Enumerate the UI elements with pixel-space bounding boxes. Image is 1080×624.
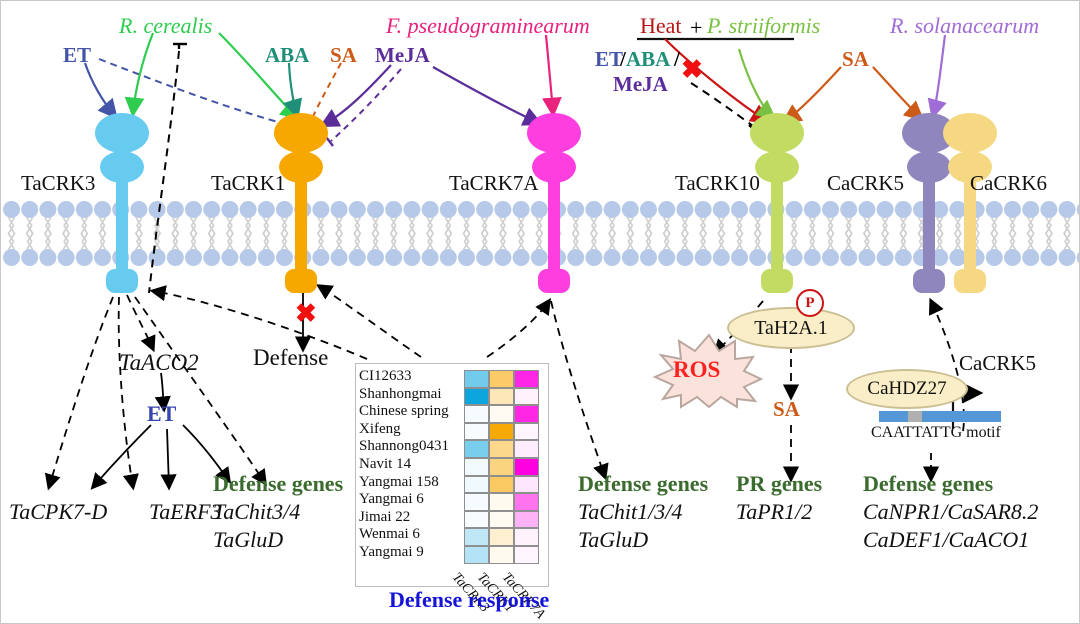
- heatmap-row-label: Jimai 22: [359, 509, 410, 526]
- gene-group-title-4: Defense genes: [863, 473, 993, 495]
- heatmap-cell: [464, 493, 489, 511]
- heatmap-row-label: Shannong0431: [359, 438, 449, 455]
- defense-response-caption: Defense response: [389, 589, 549, 611]
- hormone-label-8: /: [674, 49, 680, 70]
- heatmap-cell: [464, 458, 489, 476]
- gene-line-0-1: TaERF3: [149, 501, 222, 523]
- gene-group-title-1: Defense genes: [213, 473, 343, 495]
- heatmap-cell: [489, 405, 514, 423]
- gene-group-title-2: Defense genes: [578, 473, 708, 495]
- motif-box: [908, 411, 922, 422]
- phospho-icon: P: [796, 289, 824, 317]
- motif-label: CAATTATTG motif: [871, 425, 1001, 441]
- gene-line-2-1: TaGluD: [578, 529, 648, 551]
- gene-group-title-3: PR genes: [736, 473, 822, 495]
- hormone-label-0: ET: [63, 45, 91, 66]
- heatmap-row-label: Yangmai 6: [359, 491, 424, 508]
- hormone-label-3: MeJA: [375, 45, 430, 66]
- red-x-heat: ✖: [681, 57, 703, 83]
- et-mid-label: ET: [147, 403, 176, 425]
- defense-blocked-label: Defense: [253, 346, 328, 369]
- promoter-bar: [879, 411, 1001, 422]
- heatmap-row-label: Navit 14: [359, 456, 411, 473]
- hormone-label-5: ET: [595, 49, 623, 70]
- heatmap-cell: [464, 476, 489, 494]
- cahdz27-oval: CaHDZ27: [846, 369, 968, 409]
- heatmap-cell: [489, 423, 514, 441]
- heatmap-cell: [489, 440, 514, 458]
- taaco2-label: TaACO2: [119, 351, 199, 374]
- gene-line-4-0: CaNPR1/CaSAR8.2: [863, 501, 1038, 523]
- heatmap-cell: [489, 511, 514, 529]
- pathway-diagram: TaCRK3TaCRK1TaCRK7ATaCRK10CaCRK5CaCRK6 R…: [0, 0, 1080, 624]
- heatmap-cell: [514, 476, 539, 494]
- heatmap-cell: [489, 458, 514, 476]
- heatmap-cell: [464, 370, 489, 388]
- gene-line-0-0: TaCPK7-D: [9, 501, 107, 523]
- receptor-label-TaCRK7A: TaCRK7A: [449, 173, 539, 194]
- heatmap-cell: [514, 493, 539, 511]
- pathogen-label-5: R. solanacearum: [890, 15, 1039, 37]
- pathogen-label-2: Heat: [640, 15, 682, 37]
- pathogen-label-1: F. pseudograminearum: [386, 15, 590, 37]
- red-x-taCRK1: ✖: [295, 301, 317, 327]
- heatmap-cell: [489, 476, 514, 494]
- heatmap-cell: [489, 528, 514, 546]
- heatmap-cell: [464, 423, 489, 441]
- receptor-label-TaCRK10: TaCRK10: [675, 173, 760, 194]
- heatmap-cell: [489, 388, 514, 406]
- pathogen-label-4: P. striiformis: [707, 15, 820, 37]
- gene-line-1-1: TaGluD: [213, 529, 283, 551]
- receptor-label-TaCRK3: TaCRK3: [21, 173, 95, 194]
- heatmap-row-label: Chinese spring: [359, 403, 449, 420]
- gene-line-1-0: TaChit3/4: [213, 501, 300, 523]
- hormone-label-2: SA: [330, 45, 357, 66]
- heatmap-cell: [464, 546, 489, 564]
- heatmap-cell: [464, 405, 489, 423]
- tah2a-label: TaH2A.1: [754, 317, 828, 340]
- hormone-label-6: /: [620, 49, 626, 70]
- heatmap-row-label: Xifeng: [359, 421, 401, 438]
- cacrk5-gene-label: CaCRK5: [959, 353, 1036, 374]
- heatmap-cell: [489, 370, 514, 388]
- heatmap-cell: [514, 370, 539, 388]
- heatmap-cell: [514, 423, 539, 441]
- sa-mid-label: SA: [773, 399, 800, 420]
- heatmap-row-label: Wenmai 6: [359, 526, 420, 543]
- ros-label: ROS: [673, 358, 720, 381]
- cahdz27-label: CaHDZ27: [867, 378, 946, 400]
- heatmap-cell: [464, 388, 489, 406]
- phospho-label: P: [805, 295, 814, 312]
- gene-line-2-0: TaChit1/3/4: [578, 501, 682, 523]
- heatmap-cell: [514, 528, 539, 546]
- heatmap-cell: [514, 546, 539, 564]
- heatmap-row-label: Yangmai 9: [359, 544, 424, 561]
- gene-line-4-1: CaDEF1/CaACO1: [863, 529, 1029, 551]
- heatmap-row-label: Yangmai 158: [359, 474, 439, 491]
- heatmap-grid: [464, 370, 540, 564]
- heatmap-cell: [514, 405, 539, 423]
- hormone-label-7: ABA: [626, 49, 670, 70]
- gene-line-3-0: TaPR1/2: [736, 501, 812, 523]
- hormone-label-4: SA: [842, 49, 869, 70]
- heatmap-cell: [464, 440, 489, 458]
- heatmap-row-label: Shanhongmai: [359, 386, 442, 403]
- heatmap-cell: [514, 458, 539, 476]
- heatmap-cell: [489, 493, 514, 511]
- receptor-label-CaCRK6: CaCRK6: [970, 173, 1047, 194]
- receptor-label-CaCRK5: CaCRK5: [827, 173, 904, 194]
- tah2a-oval: TaH2A.1: [727, 307, 855, 349]
- heatmap-cell: [514, 511, 539, 529]
- heatmap-cell: [464, 511, 489, 529]
- hormone-label-1: ABA: [265, 45, 309, 66]
- heatmap-cell: [464, 528, 489, 546]
- pathogen-label-0: R. cerealis: [119, 15, 212, 37]
- heatmap-cell: [489, 546, 514, 564]
- expression-heatmap: CI12633ShanhongmaiChinese springXifengSh…: [355, 363, 549, 587]
- pathogen-label-3: +: [690, 17, 702, 39]
- receptor-label-TaCRK1: TaCRK1: [211, 173, 285, 194]
- hormone-label-9: MeJA: [613, 74, 668, 95]
- heatmap-row-label: CI12633: [359, 368, 412, 385]
- heatmap-cell: [514, 440, 539, 458]
- heatmap-cell: [514, 388, 539, 406]
